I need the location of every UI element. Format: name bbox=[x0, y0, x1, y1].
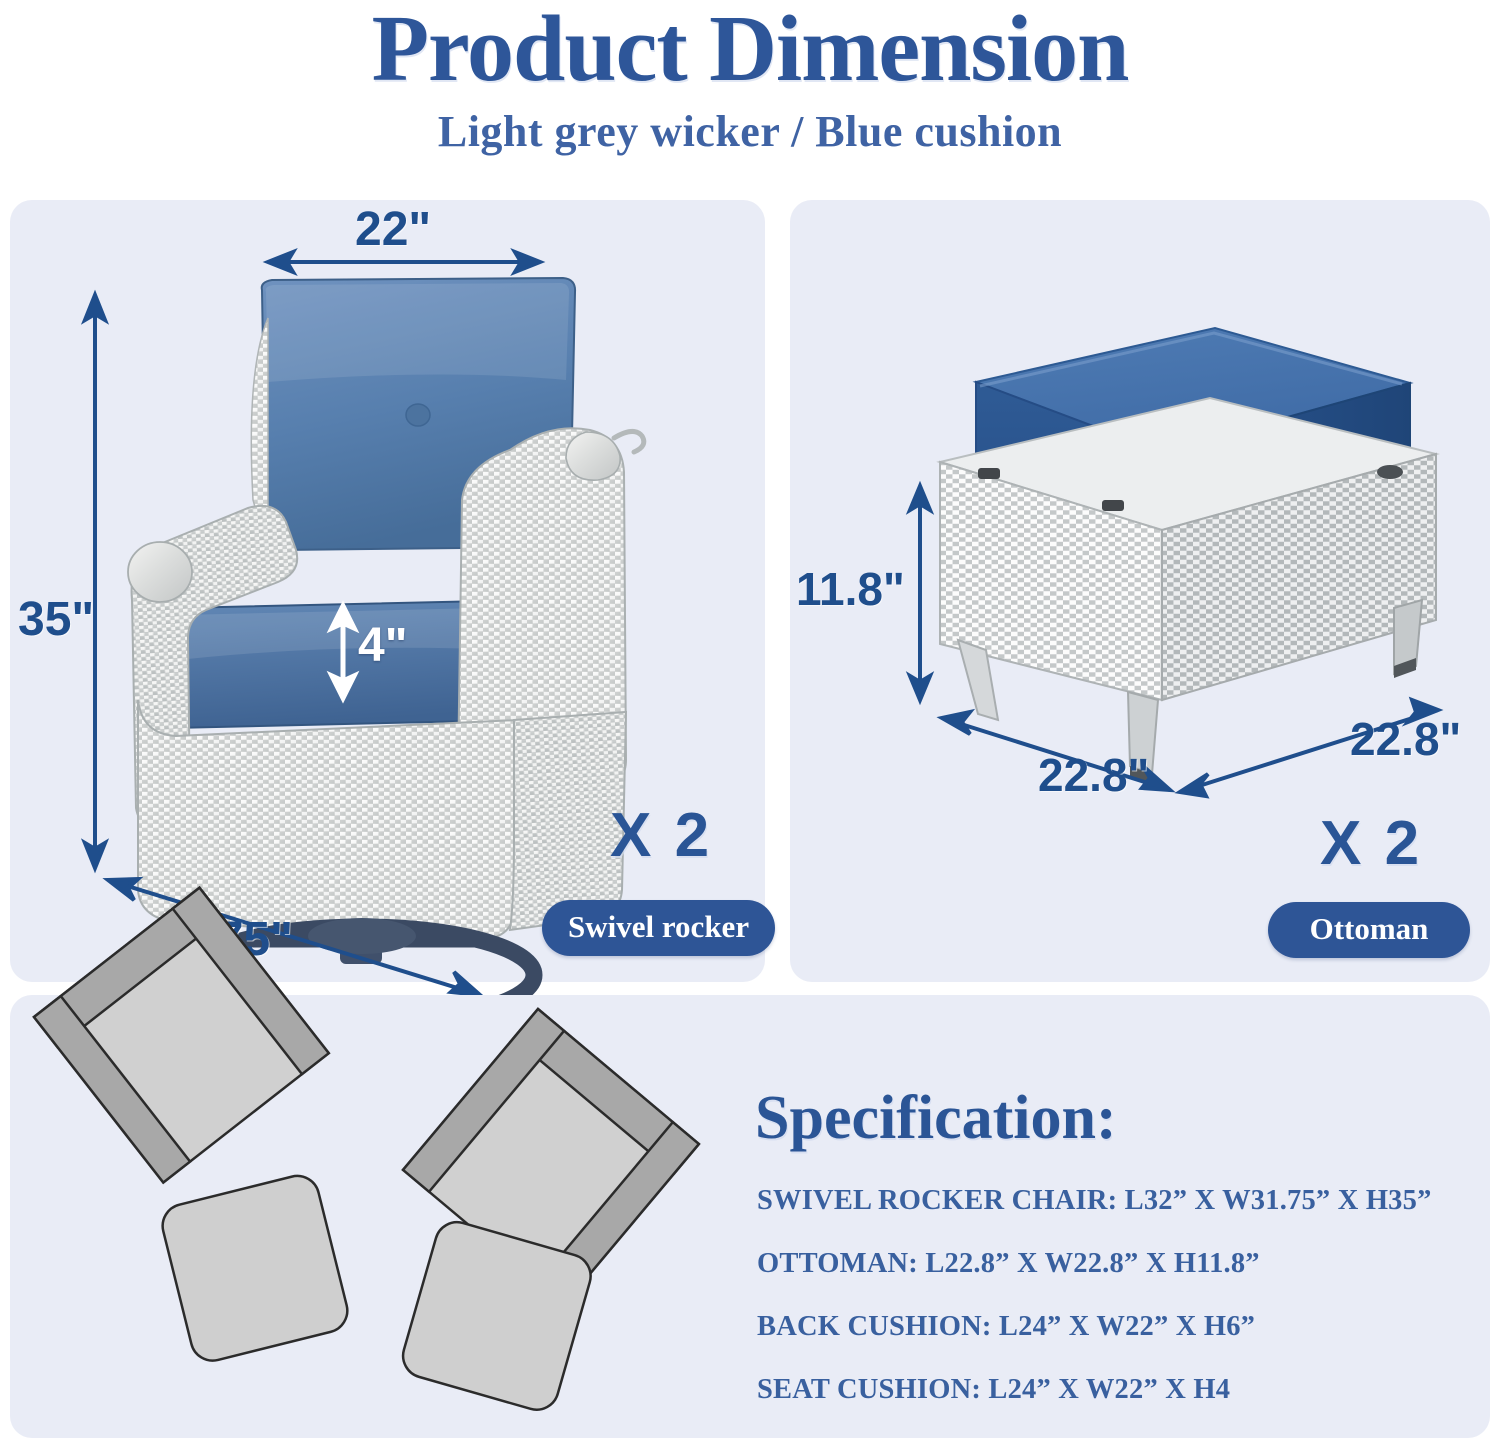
chair-type-badge: Swivel rocker bbox=[542, 900, 775, 956]
spec-line-ottoman: OTTOMAN: L22.8” X W22.8” X H11.8” bbox=[757, 1248, 1487, 1280]
ottoman-quantity-label: X 2 bbox=[1320, 808, 1422, 879]
chair-quantity-label: X 2 bbox=[610, 800, 712, 871]
seat-cushion-thickness-label: 4" bbox=[358, 618, 407, 673]
ottoman-panel: 11.8" 22.8" 22.8" X 2 Ottoman bbox=[790, 200, 1490, 982]
layout-and-specification-panel: Specification: SWIVEL ROCKER CHAIR: L32”… bbox=[10, 995, 1490, 1438]
page-subtitle: Light grey wicker / Blue cushion bbox=[0, 106, 1500, 157]
layout-ottoman-right bbox=[398, 1217, 596, 1415]
ottoman-width-label: 22.8" bbox=[1038, 748, 1149, 802]
specification-heading: Specification: bbox=[755, 1083, 1117, 1154]
ottoman-depth-label: 22.8" bbox=[1350, 712, 1461, 766]
ottoman-height-label: 11.8" bbox=[796, 562, 905, 616]
top-view-layout-diagram bbox=[10, 995, 750, 1438]
specification-list: SWIVEL ROCKER CHAIR: L32” X W31.75” X H3… bbox=[757, 1185, 1487, 1437]
layout-ottoman-left bbox=[158, 1171, 352, 1365]
header: Product Dimension Light grey wicker / Bl… bbox=[0, 0, 1500, 157]
swivel-rocker-panel: 22" 35" 31.75" 4" X 2 Swivel rocker bbox=[10, 200, 765, 982]
spec-line-back-cushion: BACK CUSHION: L24” X W22” X H6” bbox=[757, 1311, 1487, 1343]
spec-line-seat-cushion: SEAT CUSHION: L24” X W22” X H4 bbox=[757, 1374, 1487, 1406]
ottoman-type-badge: Ottoman bbox=[1268, 902, 1470, 958]
chair-height-label: 35" bbox=[18, 592, 94, 647]
page-title: Product Dimension bbox=[0, 2, 1500, 98]
layout-chair-right bbox=[403, 1009, 699, 1305]
chair-width-label: 22" bbox=[355, 202, 431, 257]
product-dimension-infographic: Product Dimension Light grey wicker / Bl… bbox=[0, 0, 1500, 1448]
spec-line-swivel-rocker: SWIVEL ROCKER CHAIR: L32” X W31.75” X H3… bbox=[757, 1185, 1487, 1217]
chair-depth-label: 31.75" bbox=[150, 912, 293, 967]
